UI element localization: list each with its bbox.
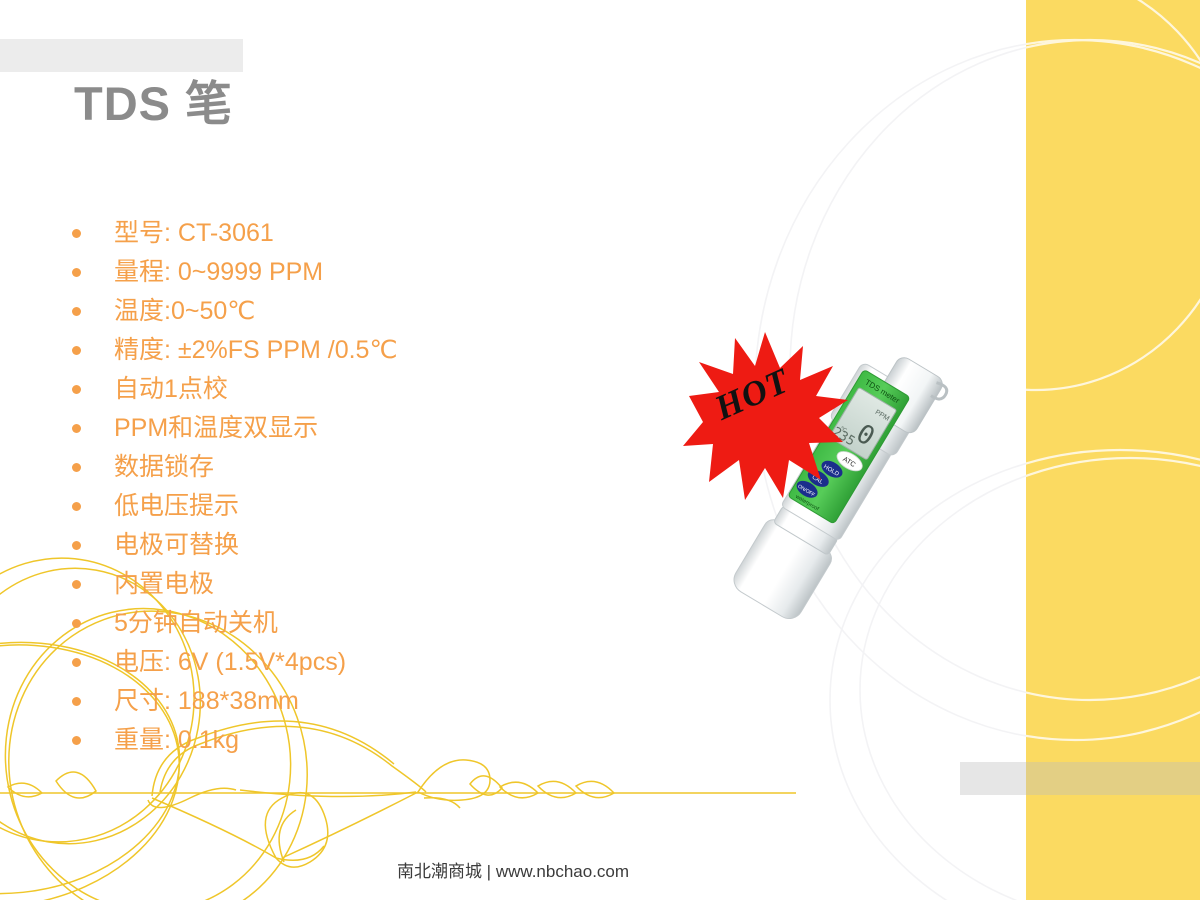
bullet-dot-icon	[72, 385, 81, 394]
list-item: 电极可替换	[62, 526, 702, 565]
list-item: 5分钟自动关机	[62, 604, 702, 643]
list-item: 低电压提示	[62, 487, 702, 526]
bullet-dot-icon	[72, 346, 81, 355]
list-item-label: 型号: CT-3061	[114, 214, 274, 253]
bullet-dot-icon	[72, 424, 81, 433]
bullet-dot-icon	[72, 307, 81, 316]
bullet-dot-icon	[72, 697, 81, 706]
bullet-dot-icon	[72, 658, 81, 667]
bullet-dot-icon	[72, 229, 81, 238]
bullet-dot-icon	[72, 502, 81, 511]
product-image: TDS meter 0 PPM 235 ℃ ATC HOLD CAL ON/OF…	[683, 330, 983, 640]
list-item: 电压: 6V (1.5V*4pcs)	[62, 643, 702, 682]
list-item-label: 电极可替换	[114, 526, 239, 565]
hot-badge-starburst	[683, 330, 848, 500]
spec-bullet-list: 型号: CT-3061 量程: 0~9999 PPM 温度:0~50℃ 精度: …	[62, 214, 702, 760]
list-item-label: 内置电极	[114, 565, 214, 604]
footer-accent-band	[960, 762, 1200, 795]
list-item-label: PPM和温度双显示	[114, 409, 318, 448]
list-item: 量程: 0~9999 PPM	[62, 253, 702, 292]
footer-text: 南北潮商城 | www.nbchao.com	[0, 857, 1026, 882]
list-item-label: 温度:0~50℃	[114, 292, 255, 331]
list-item: 内置电极	[62, 565, 702, 604]
list-item: 数据锁存	[62, 448, 702, 487]
title-accent-band	[0, 39, 243, 72]
list-item: 温度:0~50℃	[62, 292, 702, 331]
list-item: 精度: ±2%FS PPM /0.5℃	[62, 331, 702, 370]
list-item: 重量: 0.1kg	[62, 721, 702, 760]
list-item: 型号: CT-3061	[62, 214, 702, 253]
list-item-label: 数据锁存	[114, 448, 214, 487]
list-item-label: 自动1点校	[114, 370, 228, 409]
bullet-dot-icon	[72, 541, 81, 550]
bullet-dot-icon	[72, 580, 81, 589]
list-item-label: 精度: ±2%FS PPM /0.5℃	[114, 331, 398, 370]
list-item-label: 量程: 0~9999 PPM	[114, 253, 323, 292]
page-title: TDS 笔	[74, 78, 233, 130]
list-item-label: 低电压提示	[114, 487, 239, 526]
bullet-dot-icon	[72, 463, 81, 472]
list-item: PPM和温度双显示	[62, 409, 702, 448]
list-item-label: 电压: 6V (1.5V*4pcs)	[114, 643, 346, 682]
list-item-label: 5分钟自动关机	[114, 604, 278, 643]
list-item-label: 尺寸: 188*38mm	[114, 682, 299, 721]
list-item-label: 重量: 0.1kg	[114, 721, 239, 760]
list-item: 自动1点校	[62, 370, 702, 409]
list-item: 尺寸: 188*38mm	[62, 682, 702, 721]
bullet-dot-icon	[72, 619, 81, 628]
bullet-dot-icon	[72, 268, 81, 277]
bullet-dot-icon	[72, 736, 81, 745]
slide-canvas: TDS 笔 型号: CT-3061 量程: 0~9999 PPM 温度:0~50…	[0, 0, 1200, 900]
